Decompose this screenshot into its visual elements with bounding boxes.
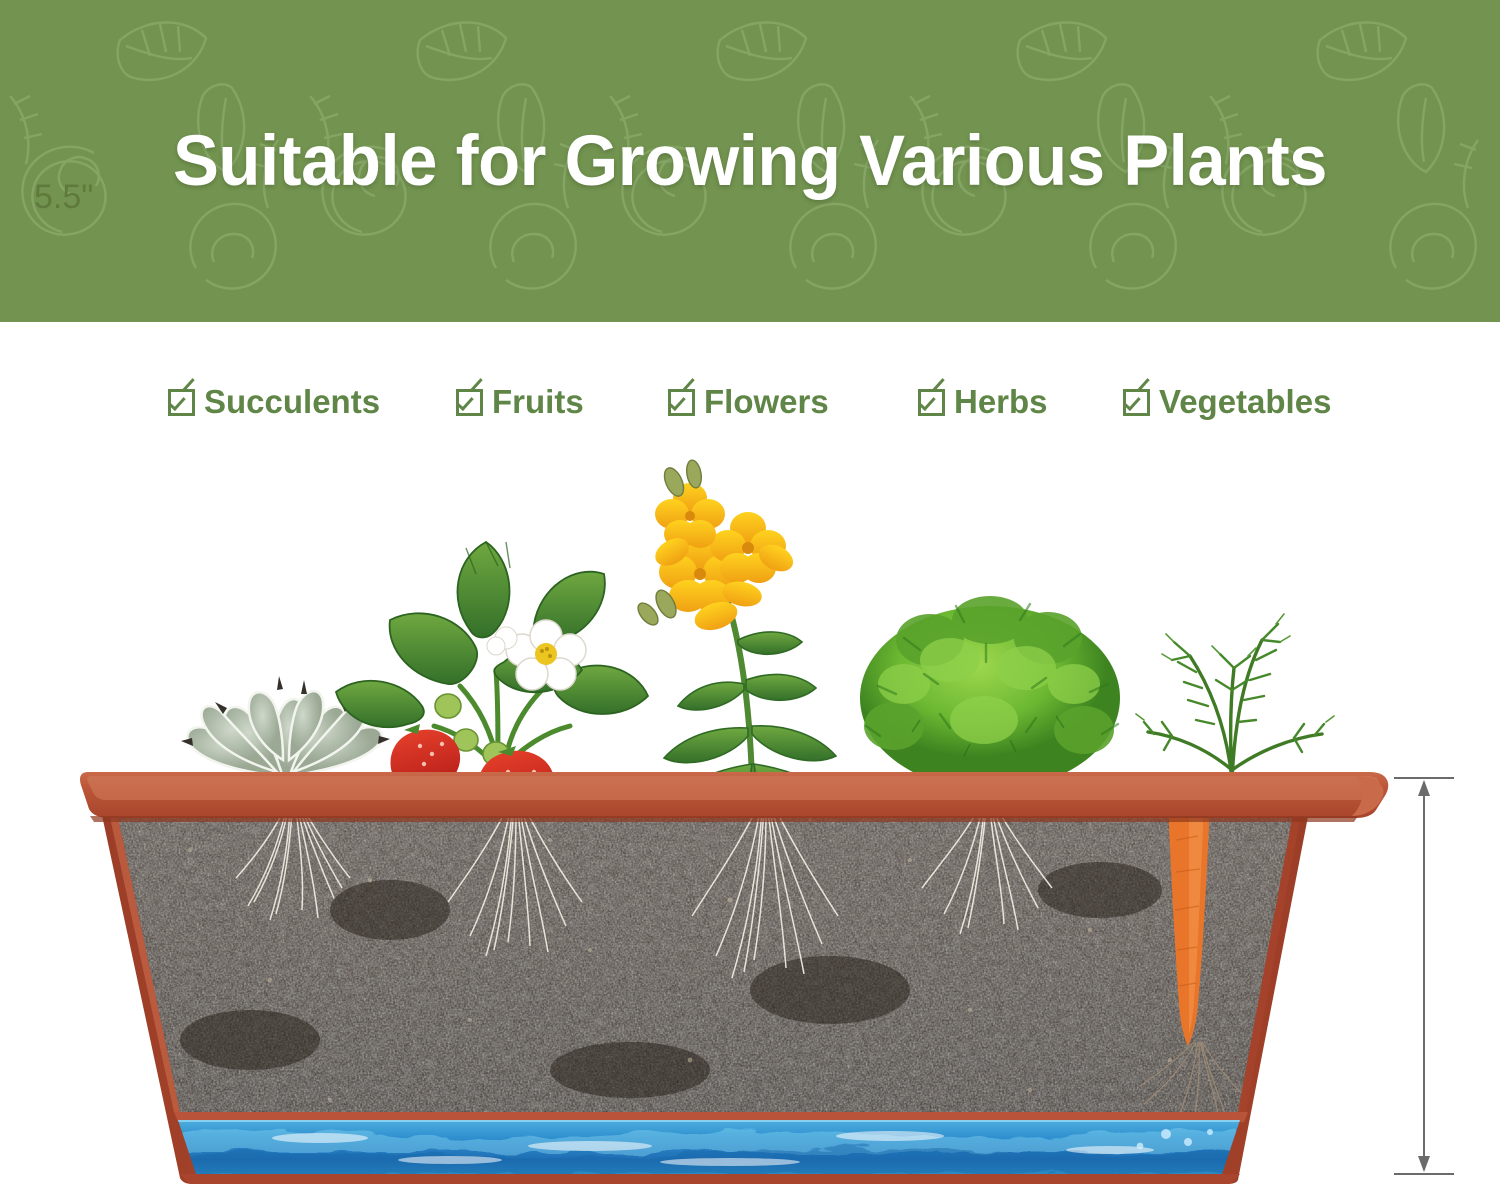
plant-illustrations bbox=[0, 330, 1500, 790]
flower-plant bbox=[634, 459, 848, 790]
product-infographic: Suitable for Growing Various Plants Succ… bbox=[0, 0, 1500, 1184]
planter-cross-section bbox=[70, 760, 1390, 1184]
planter-height-dimension bbox=[1390, 768, 1500, 1184]
carrot-plant bbox=[1136, 614, 1334, 780]
header-banner: Suitable for Growing Various Plants bbox=[0, 0, 1500, 322]
dimension-label: 5.5" bbox=[34, 178, 93, 217]
yellow-blossoms bbox=[634, 459, 797, 635]
water-reservoir bbox=[170, 1116, 1250, 1178]
page-title: Suitable for Growing Various Plants bbox=[23, 0, 1478, 322]
planter-rim bbox=[80, 772, 1388, 822]
strawberry-plant bbox=[336, 542, 648, 790]
